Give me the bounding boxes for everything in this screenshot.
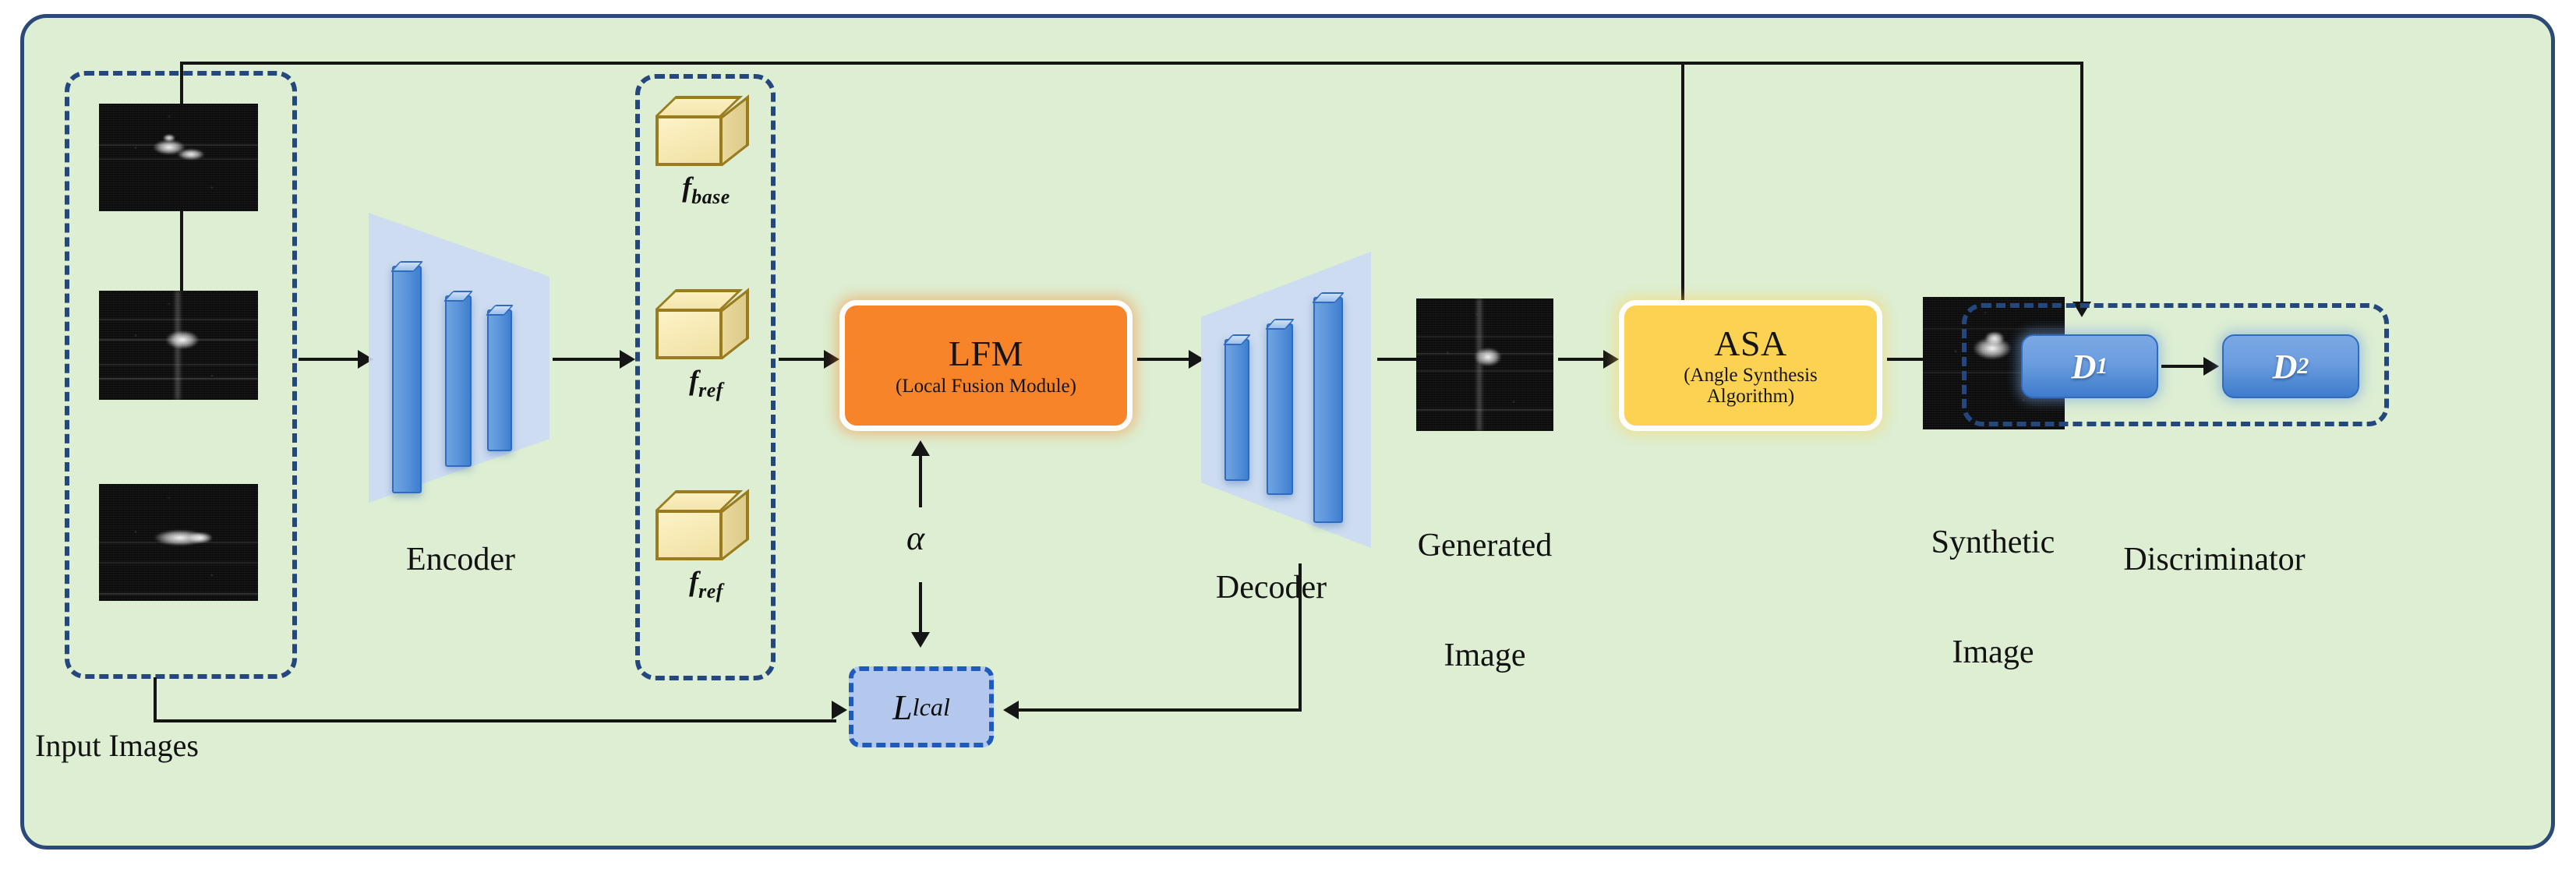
alpha-to-lfm-head xyxy=(911,440,930,456)
generated-image-caption: Generated Image xyxy=(1382,454,1588,747)
streak xyxy=(99,319,258,320)
discriminator-d2[interactable]: D2 xyxy=(2222,334,2359,398)
asa-expansion-line1: (Angle Synthesis xyxy=(1684,365,1818,386)
input-image-1 xyxy=(99,104,258,211)
generated-image xyxy=(1416,298,1553,431)
discriminator-d2-name: D xyxy=(2273,347,2298,387)
input-image-3 xyxy=(99,484,258,601)
feature-cube-fref-1 xyxy=(655,289,749,359)
arrow-features-to-lfm-line xyxy=(779,358,827,361)
decoder-block xyxy=(1201,252,1371,548)
discriminator-d1-subscript: 1 xyxy=(2096,353,2108,380)
arrow-d1-to-d2-line xyxy=(2161,365,2207,368)
decoder-layer-1 xyxy=(1224,339,1249,481)
cube-front-face xyxy=(655,115,723,166)
generated-to-loss-horizontal xyxy=(1016,708,1302,712)
generated-to-loss-vertical xyxy=(1299,563,1302,712)
feature-name: f xyxy=(689,365,698,396)
input-images-caption: Input Images xyxy=(30,729,292,764)
generated-image-caption-line1: Generated xyxy=(1382,528,1588,564)
arrow-generated-to-asa-line xyxy=(1558,358,1606,361)
asa-module[interactable]: ASA (Angle Synthesis Algorithm) xyxy=(1619,300,1882,431)
feature-cube-fref-2 xyxy=(655,490,749,560)
asa-abbreviation: ASA xyxy=(1714,324,1787,363)
discriminator-d1-name: D xyxy=(2072,347,2097,387)
target-blob xyxy=(174,147,208,161)
arrow-encoder-to-features-head xyxy=(620,350,635,369)
feature-name: f xyxy=(682,171,691,203)
asa-expansion-line2: Algorithm) xyxy=(1707,386,1795,407)
feature-cube-fref-1-label: fref xyxy=(640,364,772,402)
diagram-panel: Input Images Encoder fbase xyxy=(20,14,2555,850)
feature-cube-fbase-label: fbase xyxy=(640,171,772,209)
alpha-to-lfm-line xyxy=(919,454,922,507)
decoder-layer-2 xyxy=(1267,323,1293,495)
generated-image-caption-line2: Image xyxy=(1382,638,1588,674)
arrow-lfm-to-decoder-line xyxy=(1137,358,1192,361)
streak xyxy=(1416,370,1553,372)
streak xyxy=(99,593,258,595)
loss-lcal-box[interactable]: Llcal xyxy=(849,666,994,747)
arrow-encoder-to-features-line xyxy=(553,358,623,361)
top-bus-horizontal xyxy=(180,62,2083,65)
inputs-to-loss-horizontal xyxy=(154,719,836,722)
synthetic-image-caption: Synthetic Image xyxy=(1889,451,2097,744)
generated-to-loss-head xyxy=(1003,701,1019,719)
streak xyxy=(99,562,258,563)
streak xyxy=(99,364,258,366)
target-blob xyxy=(185,531,216,545)
discriminator-d2-subscript: 2 xyxy=(2297,353,2309,380)
top-bus-drop-to-discriminator xyxy=(2080,62,2083,305)
cube-front-face xyxy=(655,510,723,560)
encoder-layer-3 xyxy=(487,309,512,451)
lfm-module[interactable]: LFM (Local Fusion Module) xyxy=(839,300,1133,431)
arrow-d1-to-d2-head xyxy=(2203,357,2219,376)
figure-canvas: Input Images Encoder fbase xyxy=(0,0,2576,869)
synthetic-image-caption-line2: Image xyxy=(1889,634,2097,671)
decoder-layer-3 xyxy=(1313,297,1343,523)
lfm-expansion: (Local Fusion Module) xyxy=(896,376,1076,397)
decoder-label: Decoder xyxy=(1162,570,1380,606)
loss-name: L xyxy=(892,687,913,728)
lfm-abbreviation: LFM xyxy=(949,334,1023,373)
target-blob xyxy=(161,328,203,351)
target-blob xyxy=(1471,345,1505,369)
arrow-generated-to-asa-head xyxy=(1603,350,1619,369)
streak xyxy=(99,378,258,380)
feature-subscript: ref xyxy=(698,379,723,401)
target-blob xyxy=(161,133,177,143)
input-image-2 xyxy=(99,291,258,400)
alpha-to-loss-head xyxy=(911,632,930,648)
feature-cube-fbase xyxy=(655,96,749,166)
encoder-layer-2 xyxy=(445,295,472,467)
discriminator-caption: Discriminator xyxy=(2043,542,2386,578)
inputs-to-loss-vertical xyxy=(154,677,157,722)
encoder-label: Encoder xyxy=(352,542,570,578)
streak xyxy=(1416,409,1553,411)
feature-subscript: base xyxy=(691,185,730,208)
top-bus-drop-to-asa xyxy=(1681,62,1684,303)
alpha-to-loss-line xyxy=(919,582,922,635)
feature-subscript: ref xyxy=(698,580,723,602)
arrow-features-to-lfm-head xyxy=(824,350,839,369)
inputs-to-loss-head xyxy=(832,701,847,719)
loss-subscript: lcal xyxy=(913,693,950,722)
cube-front-face xyxy=(655,309,723,359)
discriminator-d1[interactable]: D1 xyxy=(2021,334,2158,398)
feature-cube-fref-2-label: fref xyxy=(640,565,772,603)
encoder-block xyxy=(369,213,549,503)
feature-name: f xyxy=(689,566,698,597)
streak xyxy=(1416,336,1553,337)
encoder-layer-1 xyxy=(392,266,422,493)
arrow-inputs-to-encoder-line xyxy=(299,358,359,361)
alpha-label: α xyxy=(906,518,924,558)
